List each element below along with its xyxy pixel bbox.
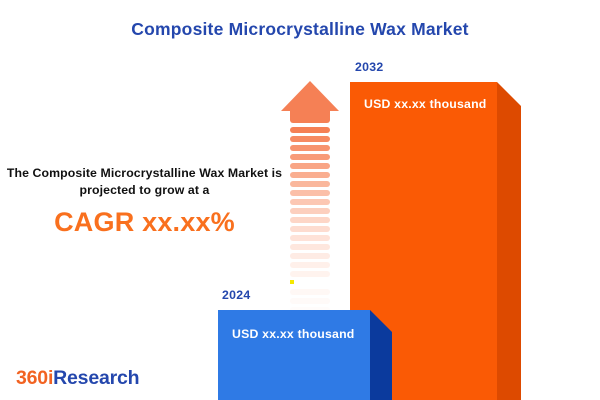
bar-2032-year-label: 2032 [355, 60, 384, 74]
arrow-shaft-segment [290, 127, 330, 133]
arrow-shaft-segment [290, 163, 330, 169]
arrow-shaft-segment [290, 217, 330, 223]
arrow-shaft-segment [290, 208, 330, 214]
bar-2032-side-face [497, 82, 521, 400]
page-title: Composite Microcrystalline Wax Market [0, 19, 600, 40]
arrow-shaft-segment [290, 199, 330, 205]
bar-2024-front-face [218, 310, 370, 400]
infographic-canvas: Composite Microcrystalline Wax Market Th… [0, 0, 600, 400]
bar-2024-year-label: 2024 [222, 288, 251, 302]
arrow-shaft-segment [290, 244, 330, 250]
arrow-shaft-segment [290, 298, 330, 304]
arrow-shaft-segment [290, 262, 330, 268]
arrow-shaft-segment [290, 271, 330, 277]
arrow-shaft-segment [290, 136, 330, 142]
arrow-shaft-segment [290, 289, 330, 295]
arrow-shaft-segment [290, 190, 330, 196]
arrow-shaft-segment [290, 145, 330, 151]
logo-text-research: Research [53, 367, 139, 389]
arrow-head-icon [281, 81, 339, 111]
logo-text-360: 360 [16, 367, 48, 389]
arrow-shaft-segment [290, 280, 330, 284]
bar-2032-value-label: USD xx.xx thousand [364, 97, 487, 111]
arrow-shaft-segment [290, 226, 330, 232]
arrow-shaft-segment [290, 172, 330, 178]
growth-arrow-icon [281, 81, 339, 296]
arrow-shaft-segment [290, 253, 330, 259]
arrow-shaft-segment [290, 235, 330, 241]
arrow-shaft-segment [290, 154, 330, 160]
cagr-statement-block: The Composite Microcrystalline Wax Marke… [0, 165, 289, 238]
arrow-neck-segment [290, 111, 330, 123]
brand-logo[interactable]: 360iResearch [16, 367, 139, 390]
bar-2024-value-label: USD xx.xx thousand [232, 327, 355, 341]
arrow-shaft-segment [290, 181, 330, 187]
cagr-value-text: CAGR xx.xx% [0, 207, 289, 238]
cagr-statement-text: The Composite Microcrystalline Wax Marke… [0, 165, 289, 198]
